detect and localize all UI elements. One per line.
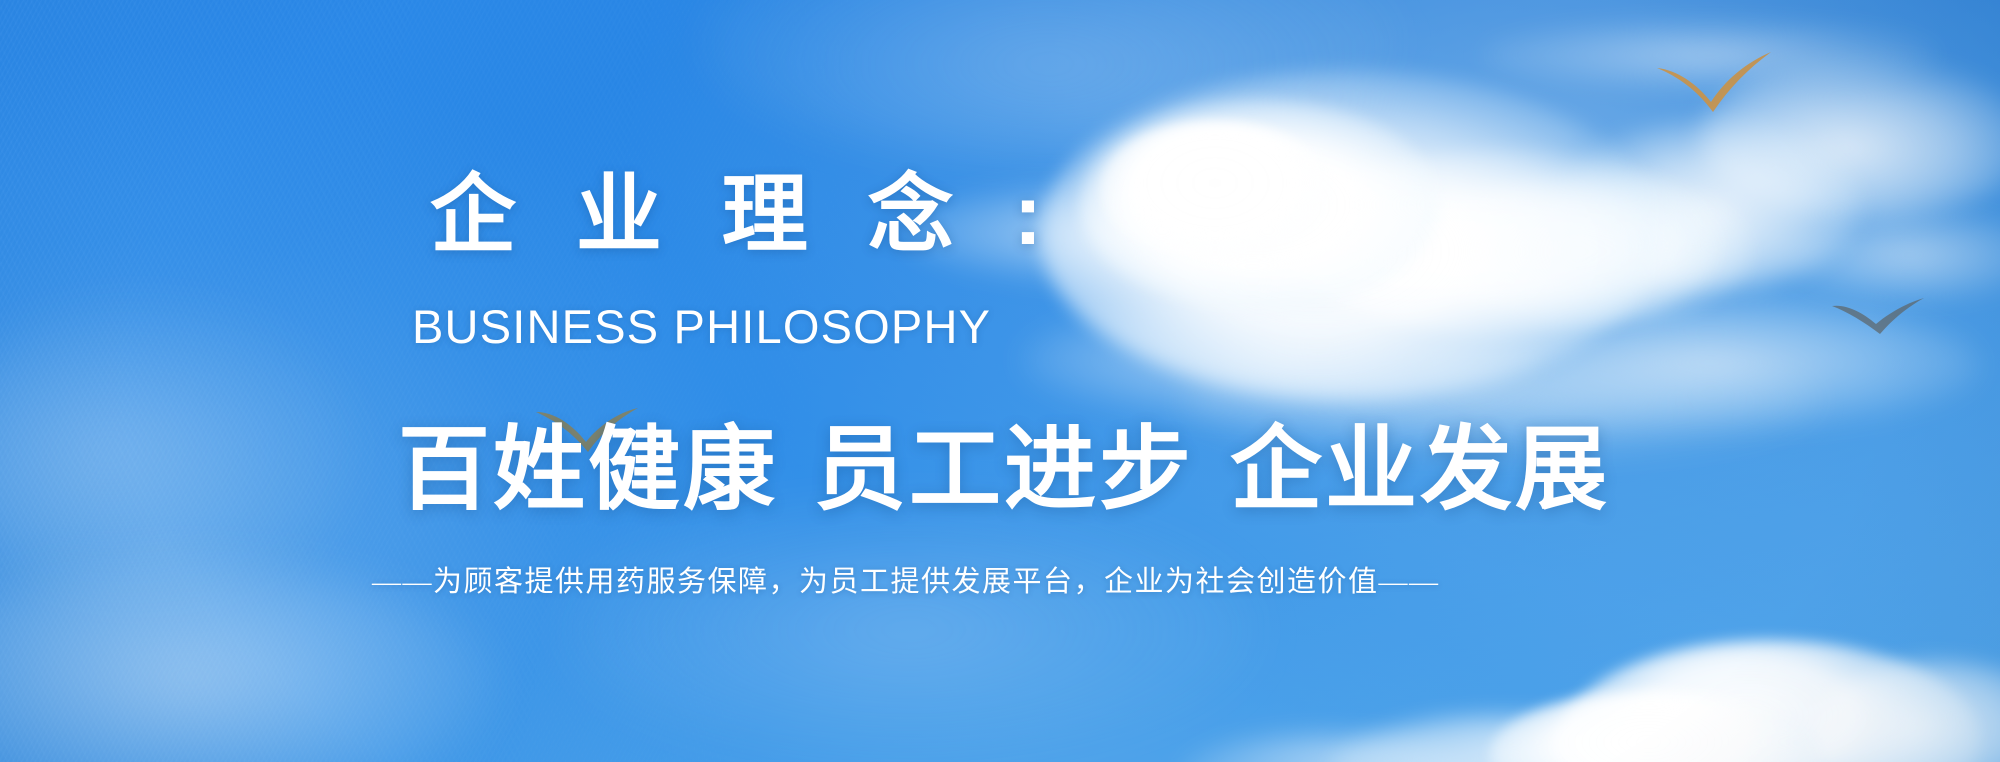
banner-subheadline-english: BUSINESS PHILOSOPHY [412, 303, 991, 350]
banner-tagline: ——为顾客提供用药服务保障，为员工提供发展平台，企业为社会创造价值—— [372, 568, 1440, 597]
banner-slogan: 百姓健康员工进步企业发展 [398, 424, 1610, 516]
slogan-part-1: 百姓健康 [398, 419, 778, 521]
philosophy-banner: 企 业 理 念 : BUSINESS PHILOSOPHY 百姓健康员工进步企业… [0, 0, 2000, 762]
slogan-part-2: 员工进步 [814, 419, 1194, 521]
banner-content: 企 业 理 念 : BUSINESS PHILOSOPHY 百姓健康员工进步企业… [0, 0, 2000, 762]
slogan-part-3: 企业发展 [1230, 419, 1610, 521]
banner-headline: 企 业 理 念 : [430, 172, 1060, 258]
